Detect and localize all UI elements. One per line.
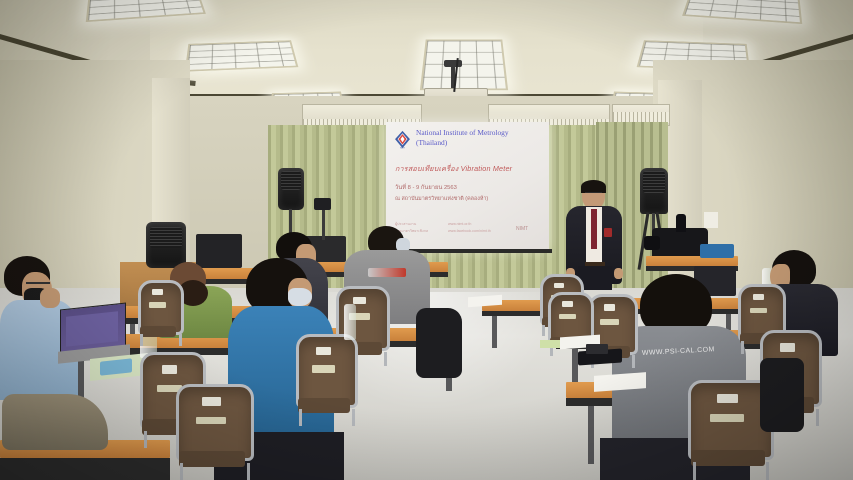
chair-label-mid [710, 414, 744, 422]
chair-center-2[interactable] [296, 334, 352, 426]
chair-label-top [753, 294, 764, 300]
document-camera-stand [322, 206, 325, 240]
chair-label-mid [312, 365, 336, 372]
stand-speaker-right [640, 168, 668, 214]
chair-label-mid [559, 314, 576, 319]
slide-topic: การสอบเทียบเครื่อง Vibration Meter [395, 164, 545, 175]
nimt-diamond-logo: NIMT [394, 130, 411, 149]
presenter-tie [591, 209, 597, 249]
presenter-badge [604, 228, 612, 237]
attendee-blue-center-mask [288, 288, 312, 306]
chair-label-top [554, 283, 564, 289]
bag-right-foreground [760, 358, 804, 432]
attendee-blue-left-hand [40, 288, 60, 308]
calculator-right [586, 344, 608, 354]
table-front-right-leg [588, 406, 594, 464]
chair-label-top [717, 394, 738, 403]
table-front-left-edge [0, 458, 170, 480]
table-mid-left-leg-1 [78, 355, 84, 401]
slide-org-line1: National Institute of Metrology [416, 128, 544, 138]
chair-label-top [316, 347, 331, 355]
chair-right-3[interactable] [688, 380, 768, 480]
chair-label-top [562, 301, 572, 307]
laptop-google-page [66, 311, 118, 346]
chair-label-mid [750, 308, 768, 314]
slide-footer-mid-2: www.facebook.com/nimt.th [448, 229, 491, 234]
chair-legs [693, 462, 769, 480]
slide-org-line2: (Thailand) [416, 138, 544, 148]
wall-speaker-left [278, 168, 304, 210]
chair-label-mid [600, 319, 618, 325]
ceiling-light-panel-2 [185, 40, 299, 71]
slide-date: วันที่ 8 - 9 กันยายน 2563 [395, 182, 457, 192]
chair-front-left-1[interactable] [176, 384, 248, 480]
camera-lens-hood [644, 236, 660, 250]
table-back-center-leg [492, 316, 497, 348]
chair-label-mid [149, 302, 166, 307]
chair-label-top [202, 397, 221, 406]
document-camera-head [314, 198, 331, 210]
attendee-blue-left-trousers [2, 394, 108, 450]
slide-place: ณ สถาบันมาตรวิทยาแห่งชาติ (คลองห้า) [395, 195, 488, 203]
slide-footer-left-1: ผู้ประสานงาน [395, 222, 416, 227]
chair-back-left-1[interactable] [138, 280, 178, 346]
svg-text:NIMT: NIMT [400, 148, 406, 149]
blue-cloth-on-table [700, 244, 734, 258]
projector-mount-bracket [444, 60, 462, 67]
water-bottle-center [344, 304, 356, 340]
projection-screen: NIMT National Institute of Metrology (Th… [386, 122, 549, 250]
chair-legs [140, 334, 181, 346]
handout-green-center [540, 340, 560, 348]
chair-label-top [162, 365, 178, 374]
ceiling-light-panel-4 [420, 39, 508, 90]
cabinet-speaker-left [146, 222, 186, 268]
slide-footer-mid-1: www.nimt.or.th [448, 222, 471, 227]
monitor-left [196, 234, 242, 268]
chair-legs [299, 409, 354, 426]
wall-paper-note [704, 212, 718, 228]
slide-footer-right: NIMT [516, 226, 528, 234]
attendee-polo-logo [368, 268, 406, 277]
chair-label-top [152, 289, 162, 295]
chair-legs [180, 463, 249, 480]
camera-mic [676, 214, 686, 232]
chair-label-mid [196, 417, 226, 425]
presenter-hand-right [614, 268, 623, 279]
seminar-room-photo: NIMT National Institute of Metrology (Th… [0, 0, 853, 480]
chair-label-top [353, 297, 365, 304]
chair-label-top [780, 343, 795, 352]
chair-label-top [604, 304, 615, 311]
backpack-center [416, 308, 462, 378]
slide-org-name: National Institute of Metrology (Thailan… [416, 128, 544, 148]
presenter-glasses [585, 192, 602, 196]
